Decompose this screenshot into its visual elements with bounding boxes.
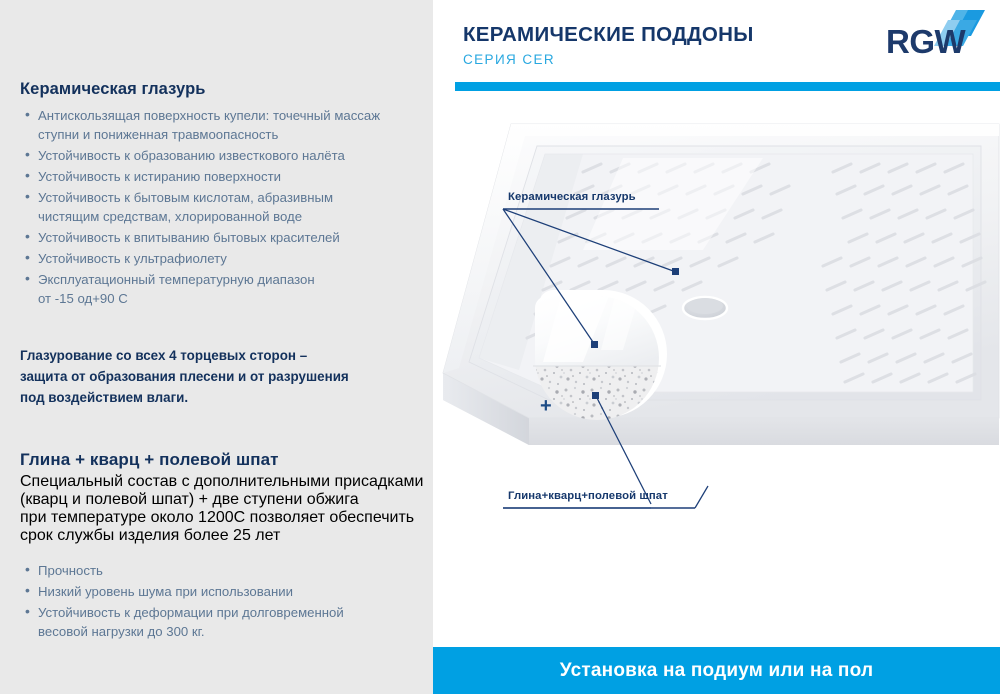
bullet-line-1: Прочность	[38, 561, 425, 580]
list-item: Устойчивость к образованию известкового …	[20, 146, 420, 165]
section-ceramic-glaze: Керамическая глазурь Антискользящая пове…	[20, 80, 420, 310]
bullet-line-1: Устойчивость к образованию известкового …	[38, 146, 420, 165]
list-item: Устойчивость к деформации при долговреме…	[20, 603, 425, 641]
callout-label-clay-quartz: Глина+кварц+полевой шпат	[508, 490, 668, 502]
bullet-line-1: Устойчивость к впитыванию бытовых красит…	[38, 228, 420, 247]
banner-text: Установка на подиум или на пол	[560, 660, 873, 682]
edge-line-3: под воздействием влаги.	[20, 387, 420, 408]
clay-para-line-1: Специальный состав с дополнительными при…	[20, 473, 425, 491]
magnifier-plus-label: +	[540, 395, 552, 417]
bullet-line-1: Устойчивость к деформации при долговреме…	[38, 603, 425, 622]
bullet-line-1: Низкий уровень шума при использовании	[38, 582, 425, 601]
clay-para-line-2: (кварц и полевой шпат) + две ступени обж…	[20, 491, 425, 509]
left-info-panel: Керамическая глазурь Антискользящая пове…	[0, 0, 433, 694]
page-header: КЕРАМИЧЕСКИЕ ПОДДОНЫ СЕРИЯ CER RGW	[433, 0, 1000, 100]
clay-heading: Глина + кварц + полевой шпат	[20, 450, 425, 470]
list-item: Устойчивость к бытовым кислотам, абразив…	[20, 188, 420, 226]
page-title: КЕРАМИЧЕСКИЕ ПОДДОНЫ	[463, 23, 754, 47]
bullet-line-2: ступни и пониженная травмоопасность	[38, 125, 420, 144]
logo-wordmark: RGW	[886, 23, 967, 60]
list-item: Прочность	[20, 561, 425, 580]
product-illustration: +	[433, 100, 1000, 645]
right-content-panel: КЕРАМИЧЕСКИЕ ПОДДОНЫ СЕРИЯ CER RGW	[433, 0, 1000, 694]
bullet-line-1: Эксплуатационный температурную диапазон	[38, 270, 420, 289]
drain-hole-icon	[683, 297, 727, 319]
clay-para-line-3: при температуре около 1200С позволяет об…	[20, 509, 425, 527]
page-root: Керамическая глазурь Антискользящая пове…	[0, 0, 1000, 694]
clay-bullet-list: Прочность Низкий уровень шума при исполь…	[20, 561, 425, 641]
edge-line-2: защита от образования плесени и от разру…	[20, 366, 420, 387]
section-clay-quartz-feldspar: Глина + кварц + полевой шпат Специальный…	[20, 450, 425, 643]
endpoint-glaze-zoom	[591, 341, 598, 348]
list-item: Эксплуатационный температурную диапазон …	[20, 270, 420, 308]
bullet-line-2: от -15 од+90 С	[38, 289, 420, 308]
shower-tray	[443, 124, 999, 445]
bullet-line-1: Антискользящая поверхность купели: точеч…	[38, 106, 420, 125]
bullet-line-1: Устойчивость к бытовым кислотам, абразив…	[38, 188, 420, 207]
section-edge-glazing: Глазурование со всех 4 торцевых сторон –…	[20, 345, 420, 408]
bullet-line-2: весовой нагрузки до 300 кг.	[38, 622, 425, 641]
bullet-line-2: чистящим средствам, хлорированной воде	[38, 207, 420, 226]
clay-para-line-4: срок службы изделия более 25 лет	[20, 527, 425, 545]
list-item: Устойчивость к истиранию поверхности	[20, 167, 420, 186]
callout-label-ceramic-glaze: Керамическая глазурь	[508, 191, 636, 203]
edge-line-1: Глазурование со всех 4 торцевых сторон –	[20, 345, 420, 366]
page-subtitle: СЕРИЯ CER	[463, 52, 555, 67]
header-accent-bar	[455, 82, 1000, 91]
bullet-line-1: Устойчивость к истиранию поверхности	[38, 167, 420, 186]
list-item: Устойчивость к впитыванию бытовых красит…	[20, 228, 420, 247]
list-item: Низкий уровень шума при использовании	[20, 582, 425, 601]
endpoint-glaze-tray	[672, 268, 679, 275]
bottom-banner: Установка на подиум или на пол	[433, 647, 1000, 694]
glaze-heading: Керамическая глазурь	[20, 80, 420, 100]
bullet-line-1: Устойчивость к ультрафиолету	[38, 249, 420, 268]
glaze-bullet-list: Антискользящая поверхность купели: точеч…	[20, 106, 420, 308]
rgw-logo: RGW	[878, 6, 988, 68]
list-item: Устойчивость к ультрафиолету	[20, 249, 420, 268]
list-item: Антискользящая поверхность купели: точеч…	[20, 106, 420, 144]
endpoint-clay-zoom	[592, 392, 599, 399]
